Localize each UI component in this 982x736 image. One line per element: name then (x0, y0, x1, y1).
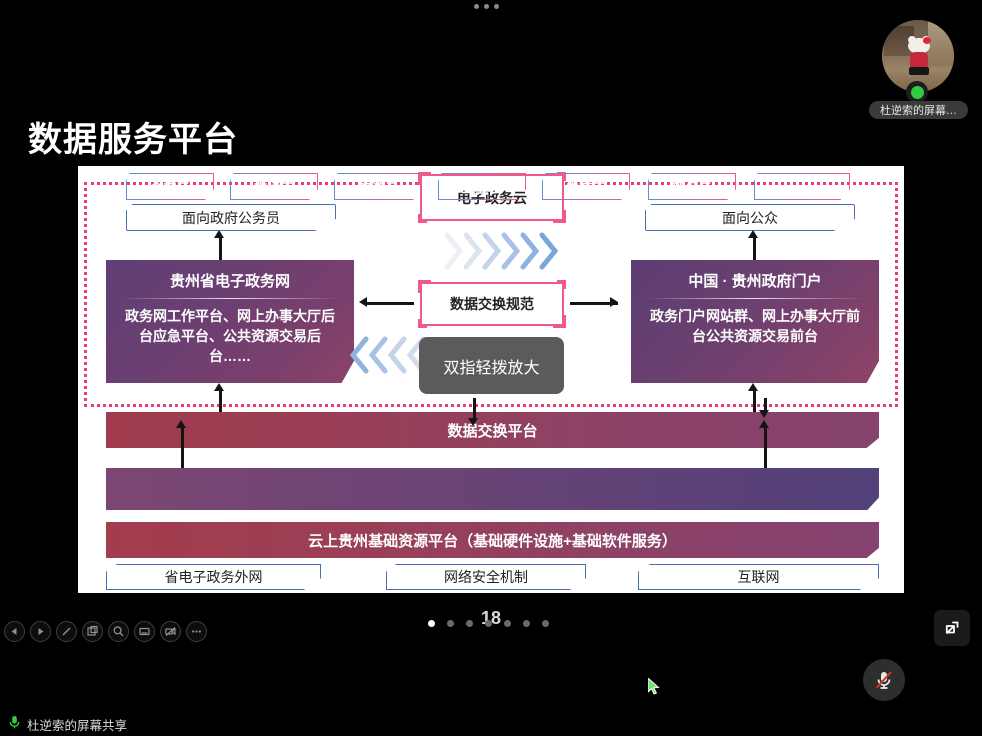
page-dot[interactable] (485, 620, 492, 627)
slide-diagram: 电子政务云 数据交换规范 面向政府公务员 面向公众 贵州省电子政务网 政务网工作… (78, 166, 904, 593)
bar-label: 云上贵州基础资源平台（基础硬件设施+基础软件服务） (308, 530, 677, 551)
mic-active-icon (8, 715, 21, 735)
card-guizhou-gov-portal: 中国 · 贵州政府门户 政务门户网站群、网上办事大厅前台公共资源交易前台 (631, 260, 879, 383)
banner-government-staff: 面向政府公务员 (126, 204, 336, 231)
banner-public: 面向公众 (645, 204, 855, 231)
footer-box-internet: 互联网 (638, 564, 879, 590)
status-bar: 杜逆索的屏幕共享 (0, 713, 982, 736)
banner-label: 面向公众 (722, 208, 778, 228)
arrow-head (176, 420, 186, 428)
page-dot[interactable] (504, 620, 511, 627)
cloud-tag-label: …… (789, 179, 816, 194)
meeting-screen-share-view: 杜逆索的屏幕… 数据服务平台 电子政务云 数据交换规范 面向政府公务员 面向公众 (0, 0, 982, 736)
arrow-up-public-card (753, 390, 756, 412)
arrow-head (759, 410, 769, 418)
page-title: 数据服务平台 (28, 112, 238, 161)
cloud-tag-tourism: 旅游云 (334, 173, 422, 200)
mic-active-icon (906, 81, 928, 103)
arrow-head (468, 418, 478, 426)
cloud-tag-traffic: 交通云 (230, 173, 318, 200)
card-body: 政务门户网站群、网上办事大厅前台公共资源交易前台 (645, 307, 865, 347)
footer-box-label: 省电子政务外网 (165, 567, 263, 587)
cloud-tag-label: 交通云 (254, 177, 295, 197)
cloud-tag-more: …… (754, 173, 850, 200)
arrow-head (359, 297, 367, 307)
kitty-figure (908, 36, 930, 76)
cloud-tag-ecommerce: 电商云 (542, 173, 630, 200)
cloud-tag-environment: 环保云 (648, 173, 736, 200)
footer-box-network-security: 网络安全机制 (386, 564, 586, 590)
data-exchange-spec-box: 数据交换规范 (420, 282, 564, 326)
kitty-body (910, 52, 928, 68)
bar-label: 数据交换平台 (447, 420, 537, 441)
page-dot[interactable] (466, 620, 473, 627)
cloud-services-strip (106, 468, 879, 510)
arrow-up-gov (219, 238, 222, 260)
wall-decor (928, 20, 954, 66)
page-dots[interactable] (428, 620, 549, 627)
arrow-up-gov-card (219, 390, 222, 412)
mic-muted-icon[interactable] (863, 659, 905, 701)
page-dot[interactable] (542, 620, 549, 627)
arrow-up-public (753, 238, 756, 260)
arrow-down-exchange (473, 398, 476, 420)
cloud-tag-label: 旅游云 (358, 177, 399, 197)
chevrons-right-icon (444, 228, 562, 274)
arrow-left-spec (366, 302, 414, 305)
bar-cloud-base-platform: 云上贵州基础资源平台（基础硬件设施+基础软件服务） (106, 522, 879, 558)
card-body: 政务网工作平台、网上办事大厅后台应急平台、公共资源交易后台…… (120, 307, 340, 367)
drag-handle[interactable] (474, 4, 499, 9)
drag-dot (474, 4, 479, 9)
card-divider (120, 298, 340, 299)
drag-dot (484, 4, 489, 9)
cloud-tag-label: 环保云 (672, 177, 713, 197)
arrow-head (214, 383, 224, 391)
arrow-head (214, 230, 224, 238)
footer-box-label: 互联网 (738, 567, 780, 587)
card-title: 中国 · 贵州政府门户 (645, 270, 865, 298)
arrow-head (748, 383, 758, 391)
page-dot[interactable] (447, 620, 454, 627)
kitty-bow (923, 37, 931, 44)
presenter-name-label: 杜逆索的屏幕… (869, 101, 968, 119)
footer-box-egov-extranet: 省电子政务外网 (106, 564, 321, 590)
mouse-cursor (648, 678, 660, 696)
pinch-zoom-tooltip: 双指轻拨放大 (419, 337, 564, 394)
corner-tick (557, 280, 566, 289)
cloud-tag-label: 工业云 (462, 177, 503, 197)
status-bar-label: 杜逆索的屏幕共享 (27, 715, 127, 734)
corner-tick (418, 319, 427, 328)
card-divider (645, 298, 865, 299)
mic-level-dot (911, 86, 924, 99)
banner-label: 面向政府公务员 (182, 208, 280, 228)
drag-dot (494, 4, 499, 9)
corner-tick (418, 214, 427, 223)
page-dot[interactable] (428, 620, 435, 627)
card-guizhou-egov-network: 贵州省电子政务网 政务网工作平台、网上办事大厅后台应急平台、公共资源交易后台…… (106, 260, 354, 383)
data-exchange-spec-label: 数据交换规范 (450, 294, 534, 314)
arrow-head (748, 230, 758, 238)
shared-slide[interactable]: 电子政务云 数据交换规范 面向政府公务员 面向公众 贵州省电子政务网 政务网工作… (78, 166, 904, 593)
cloud-tag-label: 食安云 (150, 177, 191, 197)
arrow-head (610, 297, 618, 307)
card-title: 贵州省电子政务网 (120, 270, 340, 298)
cloud-tag-label: 电商云 (566, 177, 607, 197)
expand-icon[interactable] (934, 610, 970, 646)
cloud-tag-food: 食安云 (126, 173, 214, 200)
footer-box-label: 网络安全机制 (444, 567, 528, 587)
arrow-up-clouds-2 (764, 426, 767, 470)
cloud-tag-industry: 工业云 (438, 173, 526, 200)
page-dot[interactable] (523, 620, 530, 627)
arrow-head (759, 420, 769, 428)
arrow-up-clouds-1 (181, 426, 184, 470)
kitty-base (909, 67, 929, 75)
